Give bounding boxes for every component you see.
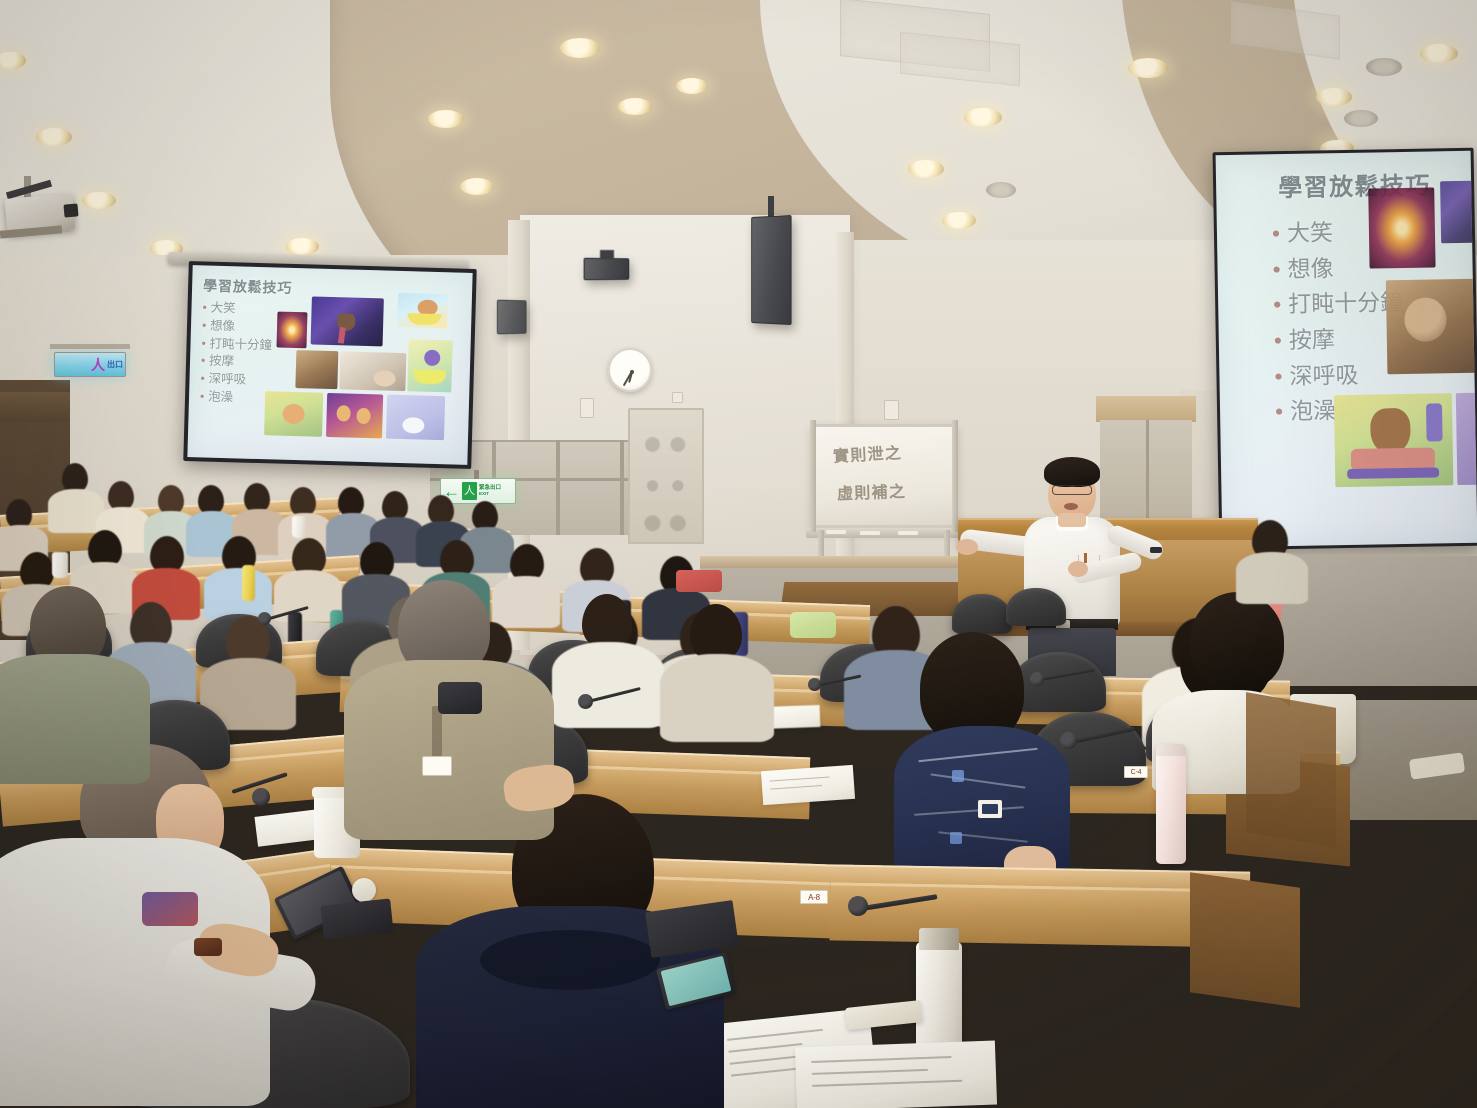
thermos-pink: [1156, 744, 1186, 864]
whiteboard-marker: [898, 531, 918, 535]
speaker-stem-left: [600, 250, 614, 259]
desk-end-panel-2: [1190, 872, 1300, 1007]
wall-shelf: [1096, 396, 1196, 422]
presenter-wristwatch: [1150, 547, 1162, 553]
slide-image-cartoon-bath: [264, 391, 323, 437]
ceiling-downlight: [1420, 44, 1458, 63]
slide-image-flame: [276, 312, 307, 349]
glasses-bridge: [1070, 485, 1075, 487]
ceiling-downlight: [460, 178, 494, 195]
lanyard: [432, 706, 442, 758]
handout-paper: [761, 765, 855, 805]
thermos-cap: [919, 928, 959, 950]
desk-microphone: [258, 612, 271, 625]
whiteboard-frame-leg: [952, 420, 958, 532]
ceiling-vent: [1344, 110, 1378, 127]
attendee-body: [660, 654, 774, 742]
slide-bullet: 想像: [210, 317, 273, 336]
ceiling-downlight: [942, 212, 976, 229]
slide-title-left: 學習放鬆技巧: [203, 275, 293, 297]
ceiling-vent: [1366, 58, 1402, 76]
slide-image-cat-massage: [1386, 279, 1477, 375]
left-projection-screen: 學習放鬆技巧 大笑 想像 打盹十分鐘 按摩 深呼吸 泡澡: [183, 261, 476, 469]
ceiling-downlight: [1316, 88, 1352, 106]
projector-lens: [63, 203, 78, 217]
presenter-hair: [1044, 457, 1100, 487]
slide-image-deep-breathing: [326, 393, 383, 439]
left-wall-trim: [0, 392, 70, 422]
lecture-hall-photo: 學習放鬆技巧 大笑 想像 打盹十分鐘 按摩 深呼吸 泡澡: [0, 0, 1477, 1108]
wall-clock: [608, 348, 652, 392]
slide-bullet: 大笑: [210, 300, 273, 319]
wall-speaker-right: [751, 215, 791, 325]
exit-runner-icon-blue: 人: [91, 358, 105, 372]
hoodie-hood: [480, 930, 660, 990]
slide-bullet: 泡澡: [208, 388, 271, 407]
presenter-left-hand: [956, 539, 978, 555]
slide-image-laughing-man: [311, 296, 384, 346]
slide-image-side: [1456, 393, 1477, 485]
slide-bullet: 按摩: [209, 353, 272, 372]
attendee-olive-jacket: [0, 586, 180, 786]
thermos-cap: [1156, 744, 1186, 756]
clock-center: [630, 370, 634, 374]
presenter-pen: [1084, 553, 1087, 563]
desk-microphone: [1060, 732, 1077, 749]
aisle-end-panel: [1246, 692, 1336, 848]
speaker-stem: [768, 196, 774, 218]
ceiling-downlight: [676, 78, 708, 94]
ceiling-downlight: [36, 128, 72, 146]
seat-label: A-8: [800, 890, 828, 904]
emergency-exit-sign-blue: 人 出口: [54, 352, 126, 377]
handout-paper-2: [795, 1041, 997, 1108]
slide-image-cat-massage: [295, 350, 338, 389]
slide-image-flame: [1368, 187, 1435, 268]
presenter-mouth: [1064, 503, 1078, 510]
ceiling-downlight: [618, 98, 652, 115]
slide-bullet: 打盹十分鐘: [209, 335, 272, 354]
slide-image-hamster-bath: [397, 293, 448, 328]
wall-switch-plate: [580, 398, 594, 418]
exit-text-blue: 出口: [107, 361, 123, 369]
ceiling-downlight: [964, 108, 1002, 127]
ceiling-downlight: [286, 238, 319, 255]
attendee-hair: [1190, 592, 1284, 690]
ceiling-downlight: [908, 160, 944, 178]
desk-microphone: [848, 896, 868, 916]
wall-switch-plate-2: [884, 400, 899, 420]
seat-label: C-4: [1124, 766, 1148, 778]
eraser-stationery: [845, 1000, 923, 1030]
whiteboard-line-1: 實則泄之: [832, 439, 902, 467]
desk-row-6-right-front: [830, 882, 1251, 947]
slide-image-bathtub-character: [407, 339, 452, 392]
ceiling-downlight: [82, 192, 116, 209]
slide-bullet: 深呼吸: [208, 371, 271, 390]
ceiling-vent: [986, 182, 1016, 198]
slide-image-baby: [339, 351, 406, 391]
ceiling-downlight: [1128, 58, 1168, 78]
wall-monitor-left: [497, 300, 527, 335]
name-badge: [422, 756, 452, 776]
notebook-cover: [320, 898, 393, 939]
desk-microphone: [252, 788, 270, 806]
slide-image-snoopy: [386, 395, 445, 441]
slide-bullets-left: 大笑 想像 打盹十分鐘 按摩 深呼吸 泡澡: [208, 300, 273, 408]
ceiling-downlight: [428, 110, 464, 128]
pouch-case: [438, 682, 482, 714]
attendee-scarf: [142, 892, 198, 926]
paper-cup: [292, 516, 306, 538]
slide-image-laughing-man: [1440, 181, 1477, 244]
desk-sticker: [352, 878, 376, 902]
attendee-body: [1236, 552, 1308, 604]
presenter-neck: [1058, 513, 1086, 527]
wall-speaker-left: [584, 258, 630, 281]
ceiling-downlight: [560, 38, 600, 58]
wristwatch: [194, 938, 222, 956]
exit-sign-blue-mount: [50, 344, 130, 349]
attendee-jacket: [0, 654, 150, 784]
paper-cup: [52, 552, 68, 578]
slide-image-cartoon-bath: [1334, 393, 1454, 487]
presenter-right-hand: [1068, 561, 1088, 577]
wall-outlet: [672, 392, 683, 403]
right-projection-screen: 學習放鬆技巧 大笑 想像 打盹十分鐘 按摩 深呼吸 泡澡: [1213, 148, 1477, 550]
desk-microphone: [808, 678, 821, 691]
